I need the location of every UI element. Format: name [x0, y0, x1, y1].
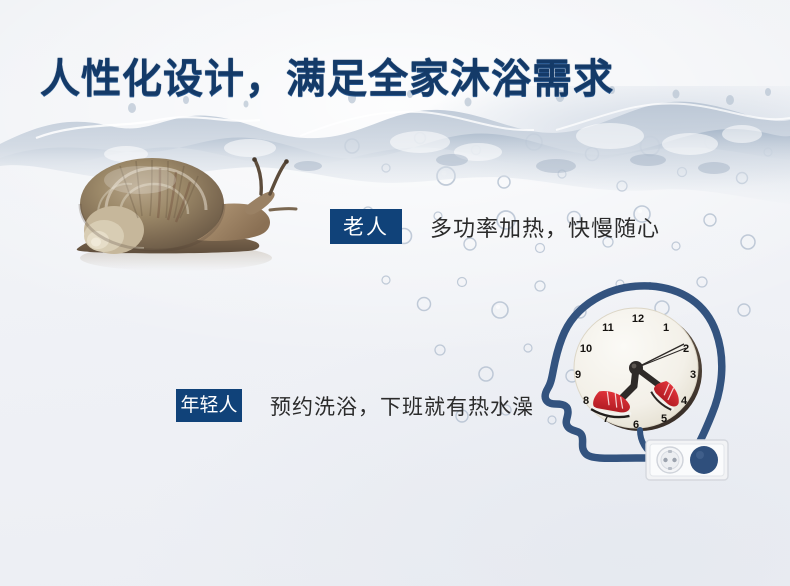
svg-text:9: 9: [575, 369, 581, 381]
product-feature-banner: 人性化设计，满足全家沐浴需求: [0, 0, 790, 586]
snail-image: [56, 152, 306, 280]
status-badge-elderly: 老人: [330, 209, 402, 244]
svg-text:5: 5: [661, 413, 667, 425]
clock-graphic: 12 1 2 3 4 5 6 7 8 9 10 11: [574, 308, 702, 431]
svg-text:10: 10: [580, 343, 592, 355]
svg-text:11: 11: [602, 322, 614, 334]
head-with-clock-illustration: 12 1 2 3 4 5 6 7 8 9 10 11: [540, 282, 732, 484]
svg-text:4: 4: [681, 395, 688, 407]
feature-caption-youth: 预约洗浴，下班就有热水澡: [270, 391, 534, 421]
status-badge-youth: 年轻人: [176, 389, 242, 422]
feature-caption-elderly: 多功率加热，快慢随心: [430, 211, 660, 243]
page-title: 人性化设计，满足全家沐浴需求: [40, 46, 614, 104]
feature-row-youth: 年轻人 预约洗浴，下班就有热水澡: [176, 389, 534, 422]
svg-text:12: 12: [632, 313, 644, 325]
wall-socket-icon: [646, 440, 728, 480]
svg-text:1: 1: [663, 322, 669, 334]
svg-text:3: 3: [690, 369, 696, 381]
feature-row-elderly: 老人 多功率加热，快慢随心: [330, 209, 660, 244]
svg-text:8: 8: [583, 395, 589, 407]
